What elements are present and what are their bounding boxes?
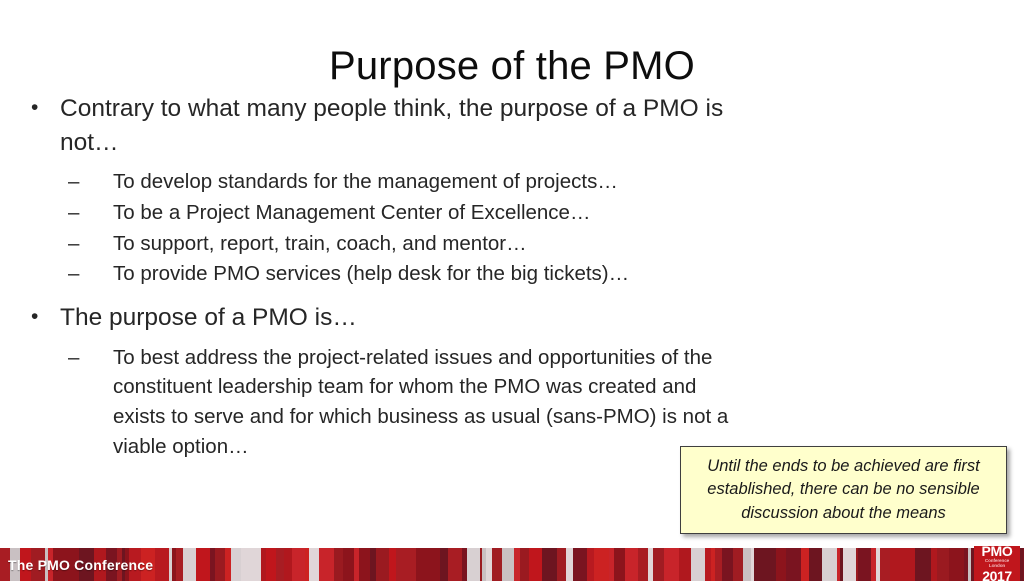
footer-bar: The PMO Conference	[0, 548, 1024, 581]
bullet-marker-dash: –	[22, 229, 68, 259]
bullet-marker-dash: –	[22, 198, 68, 228]
bullet-text: The purpose of a PMO is…	[60, 301, 752, 335]
bullet-marker-dash: –	[22, 167, 68, 197]
bullet-item-level2: – To provide PMO services (help desk for…	[22, 259, 752, 289]
spacer	[22, 290, 752, 301]
bullet-marker-dot: •	[22, 301, 60, 334]
pmo-conference-logo: PMO Conference London 2017	[974, 546, 1020, 581]
slide-body: • Contrary to what many people think, th…	[22, 92, 752, 462]
footer-stripe-pattern	[0, 548, 1024, 581]
logo-name: PMO	[982, 546, 1013, 558]
bullet-item-level1: • Contrary to what many people think, th…	[22, 92, 752, 159]
bullet-item-level2: – To develop standards for the managemen…	[22, 167, 752, 197]
bullet-item-level2: – To best address the project-related is…	[22, 343, 752, 462]
bullet-marker-dash: –	[22, 343, 68, 373]
bullet-item-level2: – To support, report, train, coach, and …	[22, 229, 752, 259]
bullet-item-level1: • The purpose of a PMO is…	[22, 301, 752, 335]
bullet-item-level2: – To be a Project Management Center of E…	[22, 198, 752, 228]
bullet-text: To support, report, train, coach, and me…	[68, 229, 752, 259]
logo-year: 2017	[982, 569, 1012, 581]
bullet-marker-dash: –	[22, 259, 68, 289]
page-title: Purpose of the PMO	[0, 43, 1024, 89]
callout-text: Until the ends to be achieved are first …	[691, 455, 996, 525]
bullet-marker-dot: •	[22, 92, 60, 125]
bullet-text: Contrary to what many people think, the …	[60, 92, 752, 159]
bullet-text: To best address the project-related issu…	[68, 343, 752, 462]
footer-label: The PMO Conference	[8, 548, 153, 581]
bullet-text: To be a Project Management Center of Exc…	[68, 198, 752, 228]
presentation-slide: Purpose of the PMO • Contrary to what ma…	[0, 0, 1024, 581]
bullet-text: To provide PMO services (help desk for t…	[68, 259, 752, 289]
callout-box: Until the ends to be achieved are first …	[680, 446, 1007, 534]
bullet-text: To develop standards for the management …	[68, 167, 752, 197]
